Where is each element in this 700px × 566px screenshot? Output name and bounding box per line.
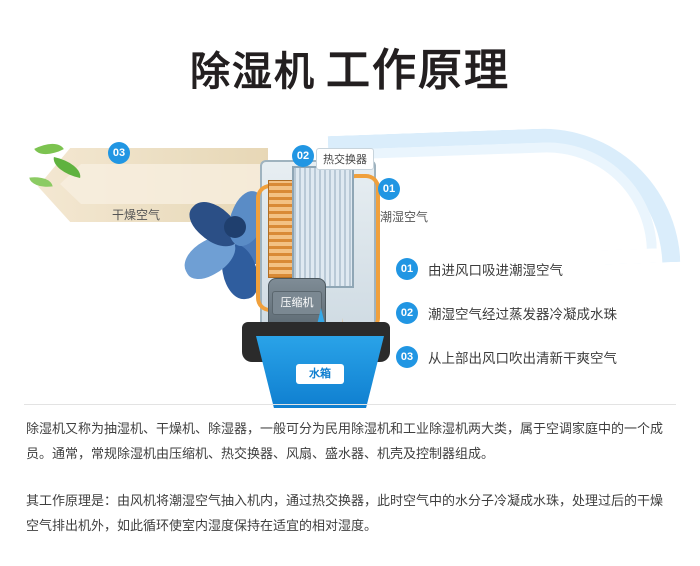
dehumidifier-machine: 压缩机 水箱: [250, 150, 390, 400]
step-number: 02: [396, 302, 418, 324]
step-text: 潮湿空气经过蒸发器冷凝成水珠: [428, 303, 617, 323]
steps-list: 01 由进风口吸进潮湿空气 02 潮湿空气经过蒸发器冷凝成水珠 03 从上部出风…: [396, 258, 686, 390]
badge-01: 01: [378, 178, 400, 200]
badge-02: 02: [292, 145, 314, 167]
step-text: 从上部出风口吹出清新干爽空气: [428, 347, 617, 367]
evaporator-coil: [292, 166, 354, 288]
dry-air-label: 干燥空气: [112, 206, 160, 223]
step-text: 由进风口吸进潮湿空气: [428, 259, 563, 279]
badge-03: 03: [108, 142, 130, 164]
list-item: 02 潮湿空气经过蒸发器冷凝成水珠: [396, 302, 686, 324]
page-root: 除湿机工作原理 压缩机 水箱: [0, 0, 700, 566]
description-paragraph-2: 其工作原理是：由风机将潮湿空气抽入机内，通过热交换器，此时空气中的水分子冷凝成水…: [26, 488, 674, 538]
description-paragraph-1: 除湿机又称为抽湿机、干燥机、除湿器，一般可分为民用除湿机和工业除湿机两大类，属于…: [26, 416, 674, 466]
page-title-part2: 工作原理: [326, 46, 510, 95]
heat-exchanger-label: 热交换器: [316, 148, 374, 170]
compressor-label: 压缩机: [272, 291, 322, 315]
wet-air-label: 潮湿空气: [380, 208, 428, 225]
list-item: 03 从上部出风口吹出清新干爽空气: [396, 346, 686, 368]
fan-hub: [224, 216, 246, 238]
page-title: 除湿机工作原理: [0, 34, 700, 98]
divider: [24, 404, 676, 405]
list-item: 01 由进风口吸进潮湿空气: [396, 258, 686, 280]
water-tank-label: 水箱: [296, 364, 344, 384]
step-number: 01: [396, 258, 418, 280]
step-number: 03: [396, 346, 418, 368]
page-title-part1: 除湿机: [190, 50, 316, 94]
